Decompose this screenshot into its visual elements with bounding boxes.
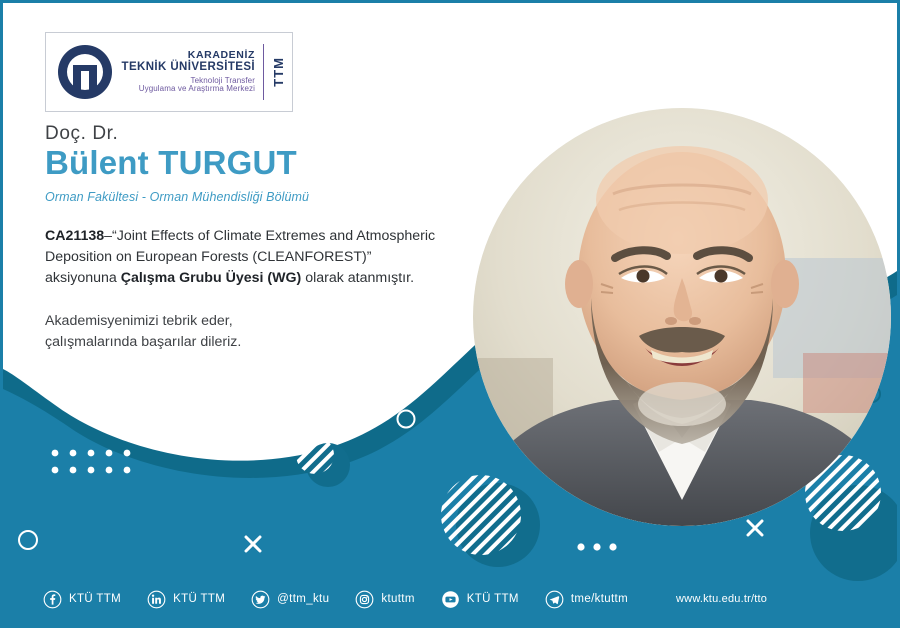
facebook-icon: [43, 590, 62, 609]
logo-line-2: TEKNİK ÜNİVERSİTESİ: [116, 61, 255, 73]
telegram-icon: [545, 590, 564, 609]
twitter-icon: [251, 590, 270, 609]
ktu-ttm-logo: KARADENİZ TEKNİK ÜNİVERSİTESİ Teknoloji …: [45, 32, 293, 112]
social-item-facebook[interactable]: KTÜ TTM: [43, 590, 121, 609]
social-item-linkedin[interactable]: KTÜ TTM: [147, 590, 225, 609]
person-name: Bülent TURGUT: [45, 145, 445, 182]
youtube-handle: KTÜ TTM: [467, 593, 519, 605]
logo-ttm-label: TTM: [271, 57, 286, 87]
youtube-icon: [441, 590, 460, 609]
telegram-handle: tme/ktuttm: [571, 593, 628, 605]
striped-circle-1: [296, 436, 334, 474]
portrait-photo: [473, 108, 891, 526]
instagram-handle: ktuttm: [381, 593, 414, 605]
closing-line-1: Akademisyenimizi tebrik eder,: [45, 311, 445, 332]
social-item-instagram[interactable]: ktuttm: [355, 590, 414, 609]
announcement-role: Çalışma Grubu Üyesi (WG): [121, 270, 302, 286]
announcement-text-after: olarak atanmıştır.: [301, 270, 414, 286]
closing-line-2: çalışmalarında başarılar dileriz.: [45, 332, 445, 353]
social-item-twitter[interactable]: @ttm_ktu: [251, 590, 329, 609]
striped-circle-2: [441, 475, 521, 555]
poster-canvas: KARADENİZ TEKNİK ÜNİVERSİTESİ Teknoloji …: [0, 0, 900, 628]
linkedin-handle: KTÜ TTM: [173, 593, 225, 605]
twitter-handle: @ttm_ktu: [277, 593, 329, 605]
announcement-text: CA21138–“Joint Effects of Climate Extrem…: [45, 226, 445, 289]
action-code: CA21138: [45, 228, 104, 244]
ktu-logo-icon: [54, 41, 116, 103]
person-department: Orman Fakültesi - Orman Mühendisliği Böl…: [45, 190, 445, 204]
social-item-telegram[interactable]: tme/ktuttm: [545, 590, 628, 609]
content-column: Doç. Dr. Bülent TURGUT Orman Fakültesi -…: [45, 123, 445, 352]
social-footer: KTÜ TTM KTÜ TTM @ttm_ktu: [3, 573, 897, 625]
instagram-icon: [355, 590, 374, 609]
person-title: Doç. Dr.: [45, 123, 445, 145]
website-url[interactable]: www.ktu.edu.tr/tto: [676, 593, 767, 605]
dot-row: [577, 543, 616, 550]
facebook-handle: KTÜ TTM: [69, 593, 121, 605]
closing-message: Akademisyenimizi tebrik eder, çalışmalar…: [45, 311, 445, 352]
linkedin-icon: [147, 590, 166, 609]
logo-text-block: KARADENİZ TEKNİK ÜNİVERSİTESİ Teknoloji …: [116, 50, 261, 94]
logo-divider: [263, 44, 264, 100]
logo-line-4: Uygulama ve Araştırma Merkezi: [116, 85, 255, 94]
logo-line-1: KARADENİZ: [116, 50, 255, 61]
social-item-youtube[interactable]: KTÜ TTM: [441, 590, 519, 609]
